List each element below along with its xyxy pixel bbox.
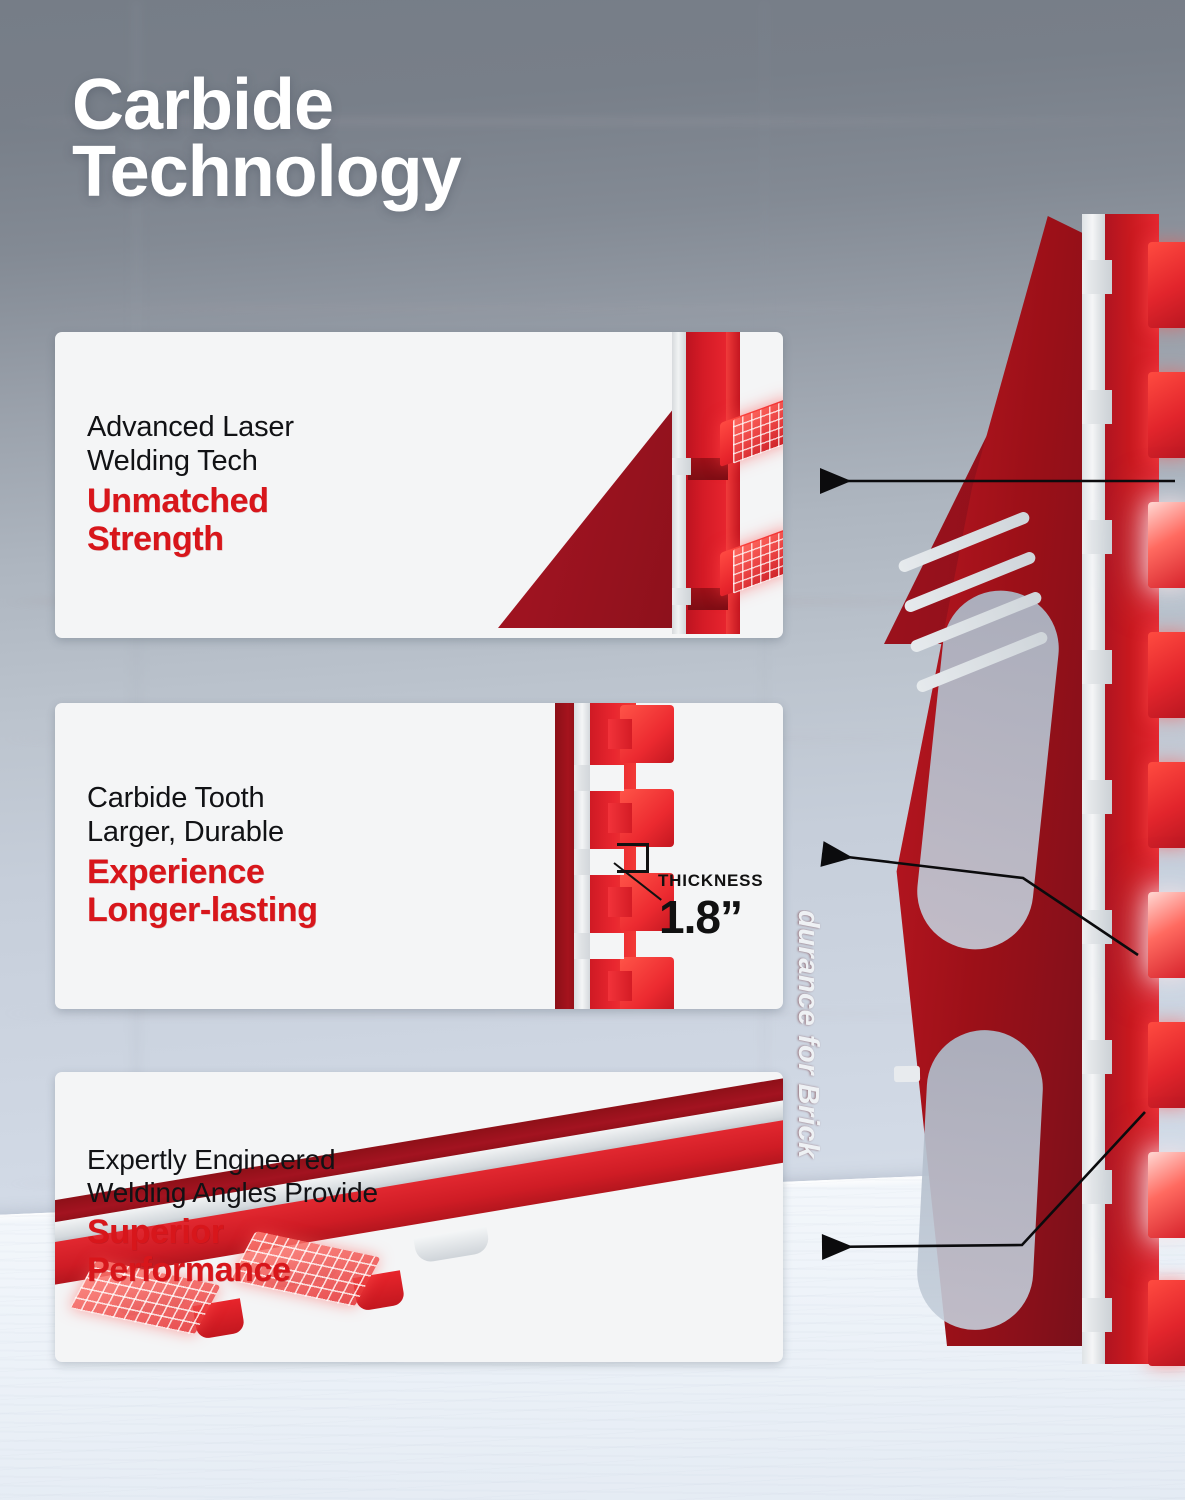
feature-card-3-text: Expertly Engineered Welding Angles Provi… bbox=[55, 1072, 495, 1362]
blade-silver-notch bbox=[672, 458, 691, 475]
blade-tip-closeup bbox=[498, 332, 738, 628]
carbide-weld-texture bbox=[733, 530, 783, 594]
blade-marking-dash bbox=[894, 1066, 920, 1082]
feature-card-1-text: Advanced Laser Welding Tech Unmatched St… bbox=[55, 332, 485, 638]
blade-silver-notch bbox=[1082, 910, 1112, 944]
blade-carbide-spine bbox=[672, 332, 688, 634]
blade-carbide-tooth bbox=[1148, 372, 1185, 458]
blade-silver-notch bbox=[574, 933, 596, 959]
feature-card-2-text: Carbide Tooth Larger, Durable Experience… bbox=[55, 703, 485, 1009]
blade-carbide-tooth bbox=[1148, 502, 1185, 588]
carbide-weld-texture bbox=[733, 400, 783, 464]
blade-carbide-tooth bbox=[1148, 632, 1185, 718]
blade-carbide-tooth bbox=[620, 705, 674, 763]
blade-carbide-tooth bbox=[1148, 762, 1185, 848]
feature-card-1-subtitle: Advanced Laser Welding Tech bbox=[87, 411, 485, 479]
blade-silver-notch bbox=[1082, 1298, 1112, 1332]
feature-card-3[interactable]: Expertly Engineered Welding Angles Provi… bbox=[55, 1072, 783, 1362]
blade-brand-text: durance for Brick bbox=[791, 910, 824, 1240]
blade-carbide-tooth bbox=[1148, 892, 1185, 978]
blade-carbide-tooth bbox=[1148, 1152, 1185, 1238]
blade-gullet bbox=[590, 933, 624, 959]
feature-card-2[interactable]: Carbide Tooth Larger, Durable Experience… bbox=[55, 703, 783, 1009]
blade-silver-notch bbox=[1082, 520, 1112, 554]
page-title: Carbide Technology bbox=[72, 72, 461, 206]
blade-silver-notch bbox=[1082, 1040, 1112, 1074]
blade-carbide-tooth bbox=[1148, 1022, 1185, 1108]
blade-carbide-tooth bbox=[620, 957, 674, 1009]
feature-card-3-subtitle: Expertly Engineered Welding Angles Provi… bbox=[87, 1144, 495, 1210]
blade-back-edge bbox=[555, 703, 577, 1009]
blade-carbide-tooth bbox=[720, 527, 783, 597]
feature-card-1[interactable]: Advanced Laser Welding Tech Unmatched St… bbox=[55, 332, 783, 638]
blade-silver-notch bbox=[1082, 390, 1112, 424]
blade-silver-notch bbox=[672, 588, 691, 605]
thickness-label: THICKNESS bbox=[658, 871, 763, 891]
thickness-value: 1.8” bbox=[659, 890, 742, 944]
blade-carbide-tooth bbox=[620, 789, 674, 847]
blade-edge-highlight bbox=[726, 332, 740, 634]
feature-card-1-headline: Unmatched Strength bbox=[87, 482, 485, 559]
blade-cutout bbox=[914, 1027, 1046, 1333]
feature-card-3-headline: Superior Performance bbox=[87, 1213, 495, 1290]
blade-silver-notch bbox=[574, 849, 596, 875]
blade-silver-notch bbox=[1082, 780, 1112, 814]
blade-tooth-column bbox=[686, 332, 728, 634]
blade-silver-notch bbox=[574, 765, 596, 791]
blade-gullet bbox=[590, 765, 624, 791]
blade-gullet bbox=[688, 458, 728, 480]
feature-card-2-subtitle: Carbide Tooth Larger, Durable bbox=[87, 782, 485, 850]
blade-carbide-spine bbox=[574, 703, 592, 1009]
blade-gullet bbox=[688, 588, 728, 610]
product-saw-blade: durance for Brick bbox=[860, 200, 1185, 1400]
blade-silver-notch bbox=[1082, 1170, 1112, 1204]
blade-carbide-tooth bbox=[720, 397, 783, 467]
blade-carbide-tooth bbox=[1148, 1280, 1185, 1366]
feature-card-2-headline: Experience Longer-lasting bbox=[87, 853, 485, 930]
blade-carbide-tooth bbox=[1148, 242, 1185, 328]
blade-silver-notch bbox=[1082, 260, 1112, 294]
blade-silver-notch bbox=[1082, 650, 1112, 684]
